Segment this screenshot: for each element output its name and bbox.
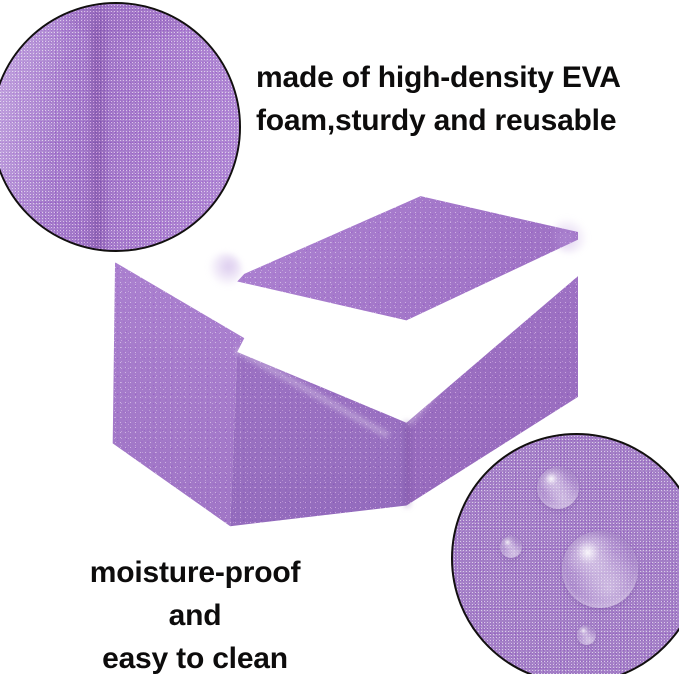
large-droplet-icon [562, 531, 639, 608]
corner-texture-detail-circle [0, 2, 241, 252]
caption-eva-line-2: foam,sturdy and reusable [256, 99, 621, 142]
caption-moisture-proof: moisture-proof and easy to clean [60, 551, 330, 674]
medium-droplet-icon [537, 467, 579, 509]
corner-detail-sheen [0, 14, 62, 240]
caption-clean-line-1: moisture-proof and [60, 551, 330, 637]
tiny-droplet-icon [577, 625, 597, 645]
block-right-rounded-corner [552, 217, 588, 253]
small-droplet-icon [500, 536, 522, 558]
block-front-corner-shadow [404, 421, 410, 507]
caption-eva-line-1: made of high-density EVA [256, 56, 621, 99]
caption-clean-line-2: easy to clean [60, 637, 330, 674]
product-infographic: made of high-density EVA foam,sturdy and… [0, 0, 679, 674]
block-left-rounded-corner [208, 253, 242, 287]
caption-eva-foam: made of high-density EVA foam,sturdy and… [256, 56, 621, 142]
